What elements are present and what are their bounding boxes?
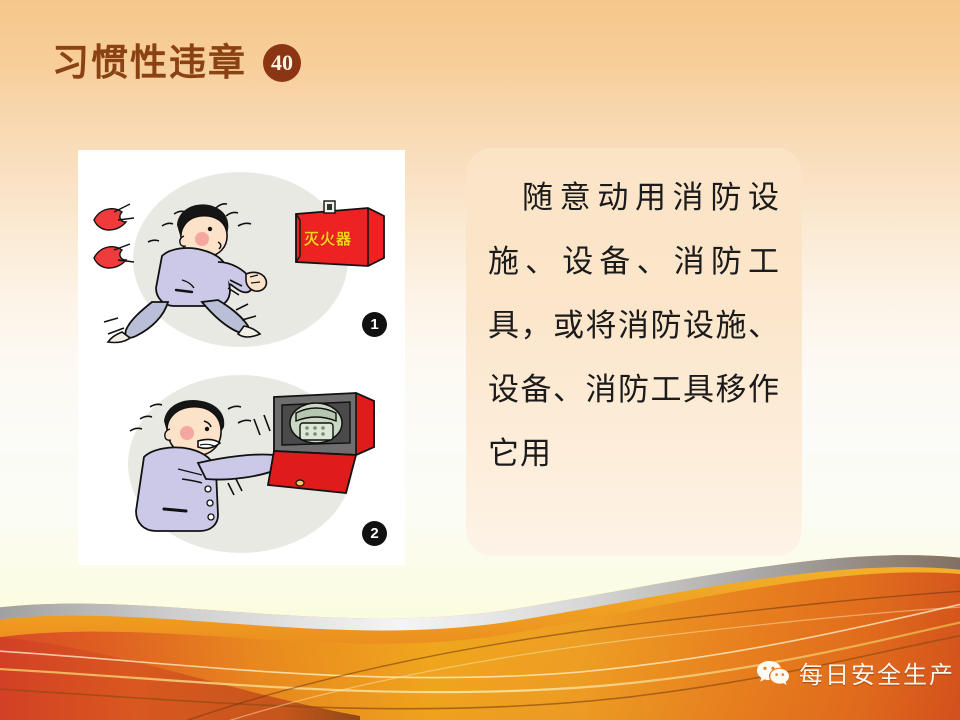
illustration-card: 灭火器 1 xyxy=(78,150,405,565)
leg-back xyxy=(125,302,168,338)
panel-number-badge-2: 2 xyxy=(362,521,387,546)
eye xyxy=(208,227,212,231)
slide-root: 习惯性违章 40 xyxy=(0,0,960,720)
illustration-panel-1: 灭火器 1 xyxy=(78,150,405,357)
description-text: 随意动用消防设施、设备、消防工具，或将消防设施、设备、消防工具移作它用 xyxy=(488,166,780,486)
door-handle xyxy=(296,480,304,486)
flame-icon xyxy=(94,204,134,268)
watermark: 每日安全生产 xyxy=(756,655,955,690)
ear xyxy=(165,429,171,440)
panel-number-badge-1: 1 xyxy=(362,312,387,337)
cheek-blush xyxy=(180,426,194,440)
slide-title-row: 习惯性违章 40 xyxy=(52,44,301,82)
illustration-panel-2: 2 xyxy=(78,357,405,564)
box-door xyxy=(268,451,356,493)
panel2-artwork xyxy=(78,357,405,564)
cheek-blush xyxy=(195,232,209,246)
watermark-label: 每日安全生产 xyxy=(799,655,955,690)
pocket xyxy=(164,509,186,511)
extinguisher-box-label: 灭火器 xyxy=(304,228,352,249)
panel1-artwork xyxy=(78,150,405,357)
emergency-telephone-box-icon xyxy=(268,393,374,493)
description-panel: 随意动用消防设施、设备、消防工具，或将消防设施、设备、消防工具移作它用 xyxy=(466,148,802,556)
page-title: 习惯性违章 xyxy=(52,45,247,82)
title-number-badge: 40 xyxy=(263,44,301,82)
box-side xyxy=(356,393,374,455)
wechat-icon xyxy=(756,659,790,687)
torso xyxy=(156,248,230,306)
eye xyxy=(205,427,209,431)
